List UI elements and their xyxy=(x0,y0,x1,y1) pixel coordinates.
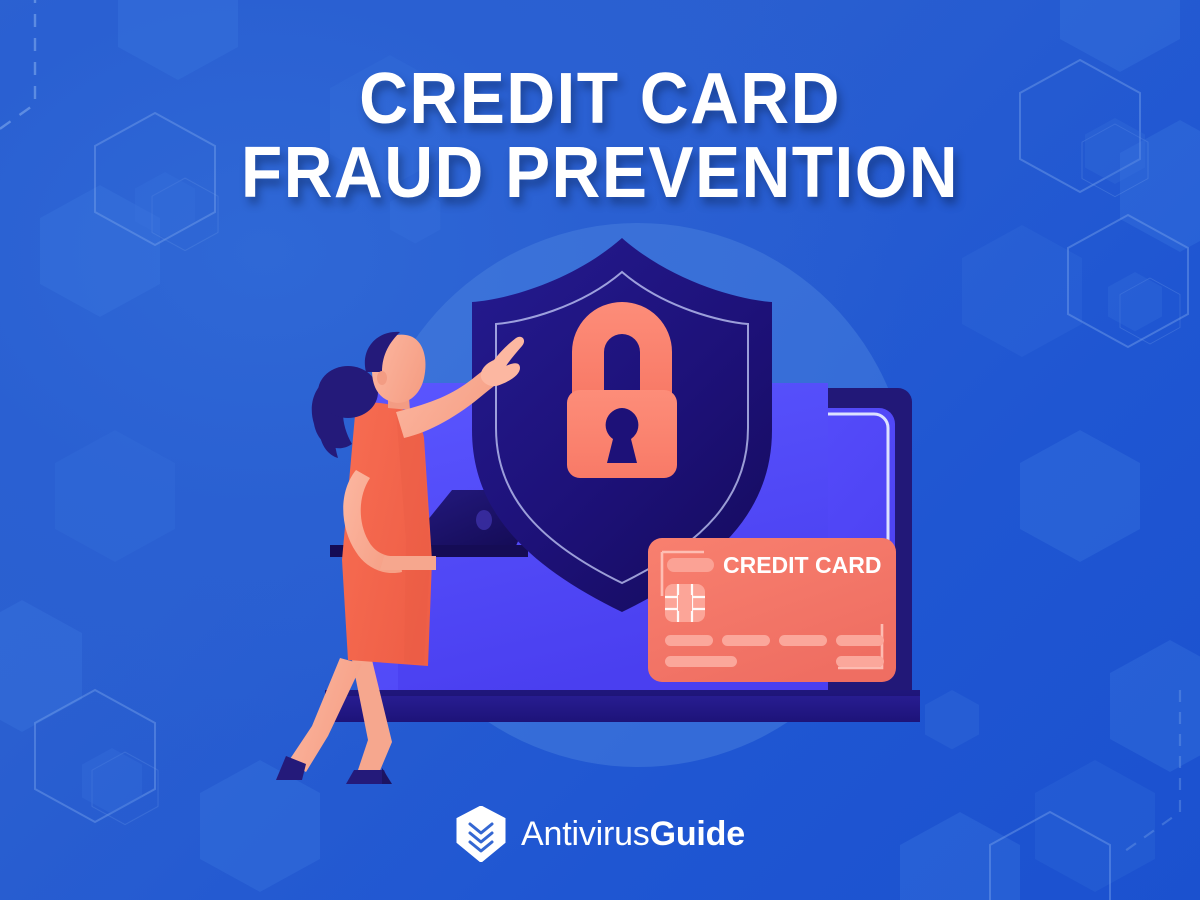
emv-chip xyxy=(665,584,705,622)
brand-logo[interactable]: AntivirusGuide xyxy=(0,806,1200,862)
brand-name-bold: Guide xyxy=(650,815,745,853)
poster-title: CREDIT CARD FRAUD PREVENTION xyxy=(0,62,1200,210)
credit-card: CREDIT CARD xyxy=(648,538,896,682)
desk-base xyxy=(325,690,920,722)
title-line-2: FRAUD PREVENTION xyxy=(36,136,1164,210)
credit-card-label: CREDIT CARD xyxy=(723,552,881,578)
brand-wordmark: AntivirusGuide xyxy=(521,815,745,854)
shield-check-logo-icon xyxy=(455,806,507,862)
title-line-1: CREDIT CARD xyxy=(36,62,1164,136)
brand-name-thin: Antivirus xyxy=(521,815,650,853)
poster-canvas: CREDIT CARD FRAUD PREVENTION xyxy=(0,0,1200,900)
padlock-icon xyxy=(567,302,677,478)
